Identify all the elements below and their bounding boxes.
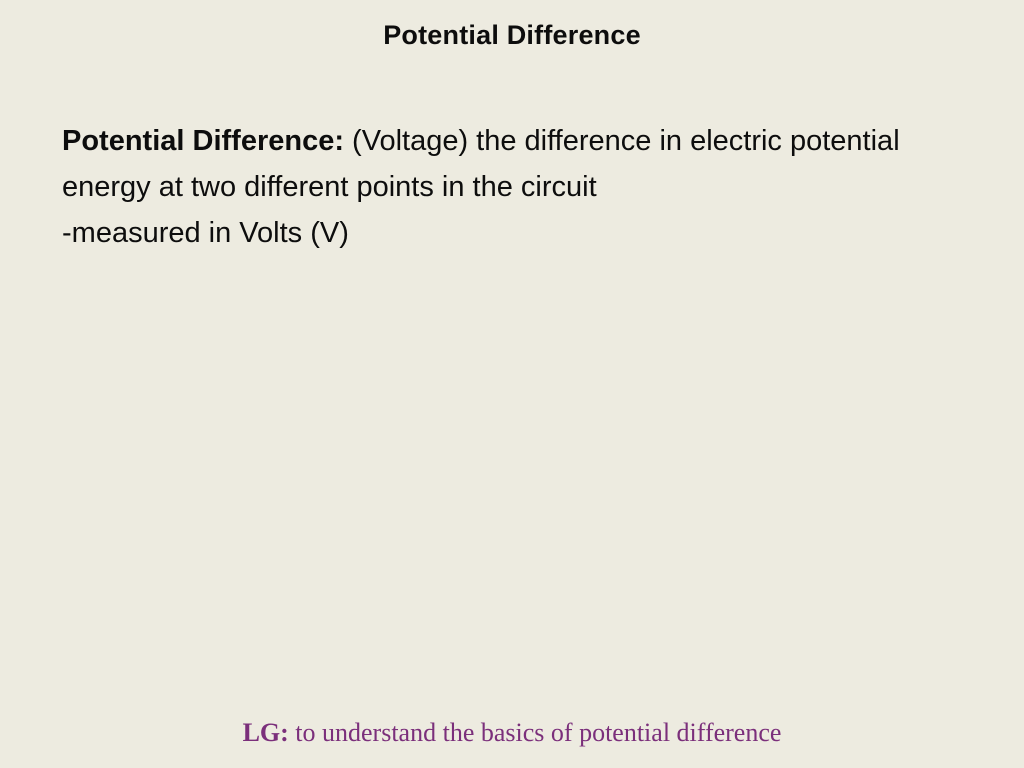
learning-goal-text: to understand the basics of potential di… [289, 718, 782, 747]
slide-body: Potential Difference: (Voltage) the diff… [62, 118, 962, 256]
slide-title: Potential Difference [0, 20, 1024, 51]
sub-point-text: -measured in Volts (V) [62, 210, 962, 256]
learning-goal-label: LG: [243, 718, 289, 747]
slide-canvas: Potential Difference Potential Differenc… [0, 0, 1024, 768]
definition-paragraph: Potential Difference: (Voltage) the diff… [62, 118, 962, 210]
learning-goal-line: LG: to understand the basics of potentia… [0, 718, 1024, 748]
definition-lead-label: Potential Difference: [62, 125, 344, 157]
